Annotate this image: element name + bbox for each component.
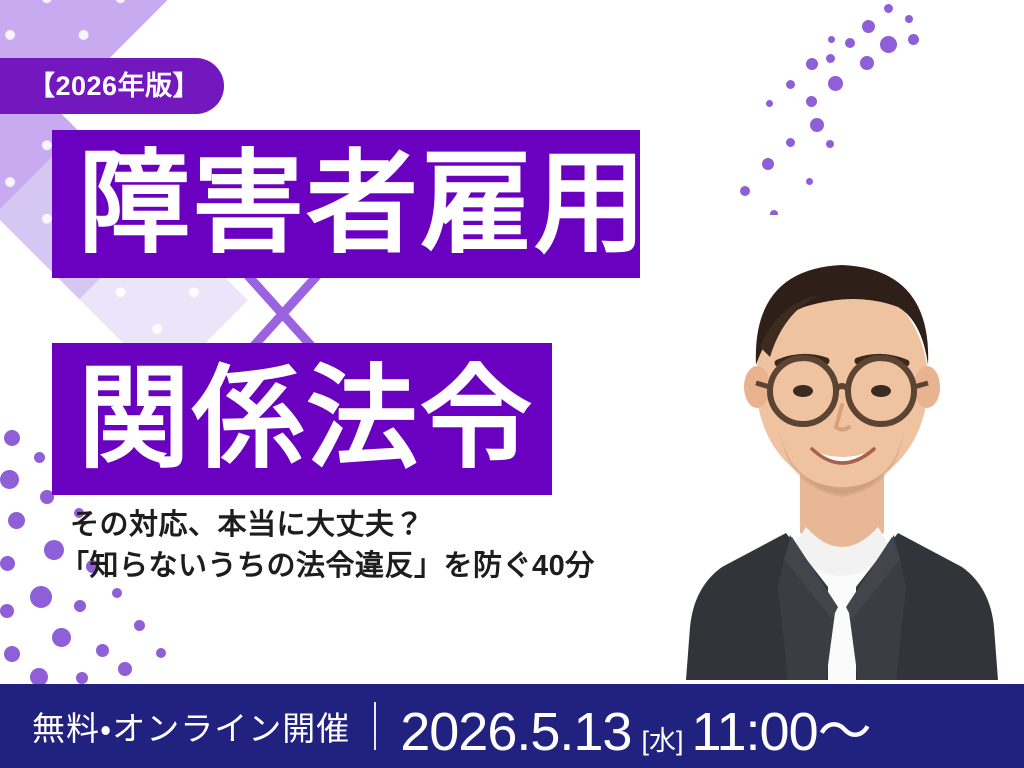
speaker-photo bbox=[660, 215, 1024, 680]
scatter-dot bbox=[134, 620, 145, 631]
scatter-dot bbox=[0, 470, 19, 489]
webinar-banner: 【2026年版】 障害者雇用 関係法令 その対応、本当に大丈夫？ 「知らないうち… bbox=[0, 0, 1024, 768]
scatter-dot bbox=[118, 662, 132, 676]
scatter-dot bbox=[884, 4, 893, 13]
scatter-dot bbox=[762, 158, 774, 170]
scatter-dot bbox=[880, 36, 897, 53]
footer-free-online-label: 無料・オンライン開催 bbox=[32, 702, 350, 750]
scatter-dot bbox=[826, 54, 835, 63]
scatter-dot bbox=[806, 58, 818, 70]
footer-time: 11:00〜 bbox=[691, 687, 870, 766]
scatter-dot bbox=[34, 452, 45, 463]
scatter-dot bbox=[786, 138, 795, 147]
year-badge-label: 【2026年版】 bbox=[28, 73, 200, 100]
footer-divider bbox=[374, 702, 376, 750]
scatter-dot bbox=[908, 34, 919, 45]
scatter-dot bbox=[52, 628, 71, 647]
scatter-dot bbox=[845, 38, 855, 48]
scatter-dot bbox=[156, 648, 166, 658]
scatter-dot bbox=[862, 20, 875, 33]
footer-bar: 無料・オンライン開催 2026.5.13 [水] 11:00〜 bbox=[0, 684, 1024, 768]
scatter-dot bbox=[826, 140, 834, 148]
title-block-primary: 障害者雇用 bbox=[52, 130, 640, 278]
scatter-dot bbox=[806, 96, 817, 107]
scatter-dot bbox=[4, 430, 20, 446]
subtitle: その対応、本当に大丈夫？ 「知らないうちの法令違反」を防ぐ40分 bbox=[60, 505, 680, 587]
footer-schedule: 2026.5.13 [水] 11:00〜 bbox=[400, 687, 870, 766]
scatter-dot bbox=[4, 646, 20, 662]
scatter-dot bbox=[8, 512, 25, 529]
scatter-dot bbox=[74, 600, 86, 612]
scatter-dot bbox=[30, 586, 52, 608]
footer-day-of-week: [水] bbox=[641, 719, 683, 758]
title-block-secondary: 関係法令 bbox=[52, 343, 552, 495]
scatter-dot bbox=[96, 644, 109, 657]
subtitle-line-1: その対応、本当に大丈夫？ bbox=[60, 505, 680, 546]
scatter-dot bbox=[76, 672, 88, 684]
scatter-dot bbox=[828, 76, 843, 91]
footer-date: 2026.5.13 bbox=[400, 701, 631, 763]
scatter-dot bbox=[810, 118, 824, 132]
scatter-dot bbox=[806, 178, 813, 185]
scatter-dot bbox=[740, 186, 750, 196]
speaker-portrait-illustration bbox=[660, 215, 1024, 680]
subtitle-line-2: 「知らないうちの法令違反」を防ぐ40分 bbox=[60, 546, 680, 587]
title-line-1: 障害者雇用 bbox=[78, 148, 648, 260]
scatter-dot bbox=[905, 15, 913, 23]
scatter-dot bbox=[112, 588, 122, 598]
scatter-dot bbox=[766, 100, 773, 107]
scatter-dot bbox=[786, 80, 795, 89]
scatter-dot bbox=[0, 556, 15, 571]
scatter-dot bbox=[860, 56, 874, 70]
scatter-dot bbox=[828, 36, 835, 43]
title-line-2: 関係法令 bbox=[78, 363, 534, 475]
year-badge: 【2026年版】 bbox=[0, 58, 224, 114]
scatter-dot bbox=[0, 604, 14, 618]
